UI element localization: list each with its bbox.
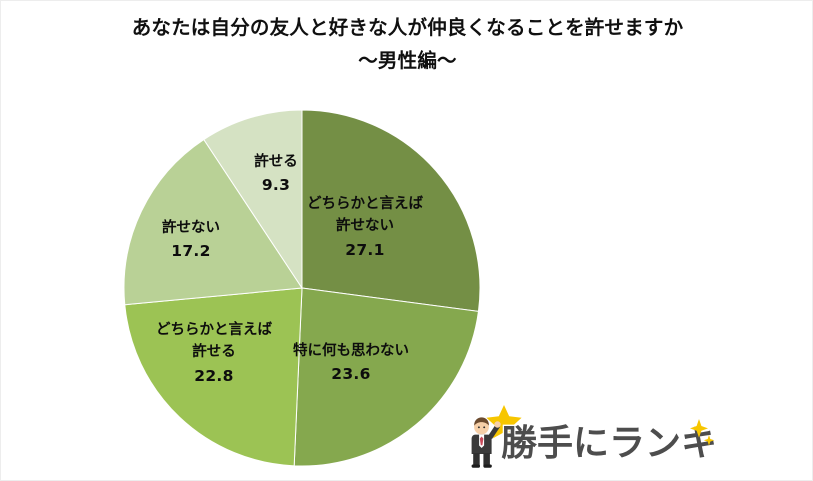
logo-svg: 勝手にランキング bbox=[467, 399, 717, 469]
logo-wordmark: 勝手にランキング bbox=[501, 423, 717, 464]
page-title: あなたは自分の友人と好きな人が仲良くなることを許せますか bbox=[1, 15, 813, 40]
title-block: あなたは自分の友人と好きな人が仲良くなることを許せますか 〜男性編〜 bbox=[1, 15, 813, 75]
pie-chart-svg bbox=[123, 109, 481, 467]
chart-page: あなたは自分の友人と好きな人が仲良くなることを許せますか 〜男性編〜 どちらかと… bbox=[0, 0, 813, 481]
pie-slice-1 bbox=[294, 288, 478, 466]
pie-slice-0 bbox=[302, 110, 480, 311]
page-subtitle: 〜男性編〜 bbox=[1, 48, 813, 74]
pie-chart bbox=[123, 109, 481, 467]
pie-slice-group bbox=[124, 110, 480, 466]
site-logo: 勝手にランキング bbox=[467, 399, 717, 469]
pie-slice-2 bbox=[125, 288, 302, 466]
businessman-icon bbox=[472, 417, 501, 467]
